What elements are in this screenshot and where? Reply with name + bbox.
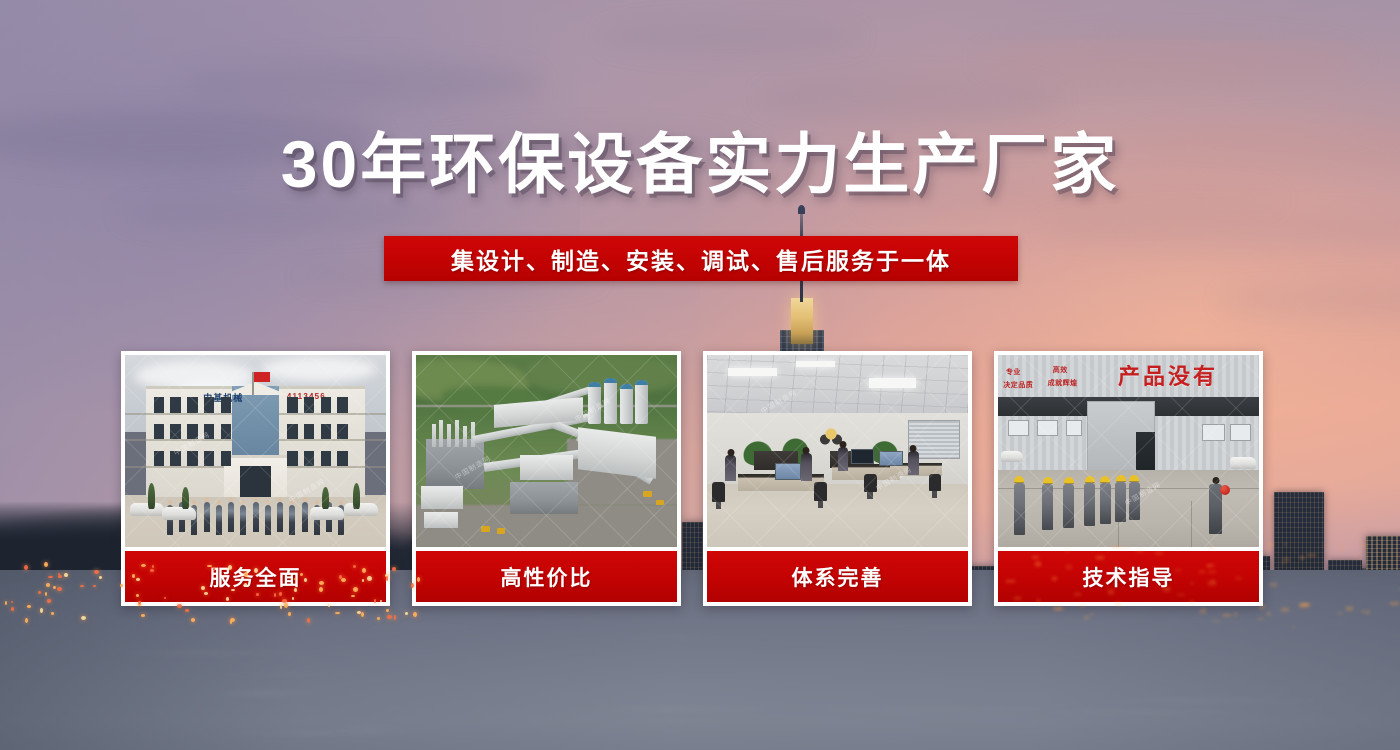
factory-slogan-small: 成就辉煌 — [1048, 378, 1078, 388]
building-window — [154, 451, 164, 466]
city-light — [1118, 572, 1120, 576]
city-light — [1365, 611, 1370, 614]
building-window — [170, 397, 180, 412]
factory-slogan-small: 决定品质 — [1003, 380, 1033, 390]
city-light — [1346, 607, 1353, 611]
city-light — [1302, 604, 1311, 606]
city-light — [1200, 609, 1206, 614]
feature-card[interactable]: 中基机械 4113456 中国制造网 中国制造网 服务全面 — [121, 351, 390, 606]
scene-element — [432, 424, 436, 447]
city-light — [1057, 608, 1065, 610]
city-light — [1032, 556, 1039, 559]
scene-element — [322, 487, 329, 509]
scene-element — [801, 453, 812, 481]
scene-element — [497, 528, 505, 534]
card-caption: 服务全面 — [125, 551, 386, 602]
scene-element — [254, 372, 270, 382]
scene-element — [424, 512, 458, 527]
city-light — [1208, 571, 1216, 573]
scene-element — [455, 420, 459, 447]
city-light — [1037, 599, 1040, 603]
scene-element — [879, 451, 902, 466]
city-light — [1354, 556, 1357, 558]
subtitle-banner: 集设计、制造、安装、调试、售后服务于一体 — [384, 236, 1018, 281]
card-photo-workers-factory: 产品没有 专业 决定品质 高效 成就辉煌 — [998, 355, 1259, 547]
scene-element — [707, 484, 968, 547]
building-window — [154, 424, 164, 439]
city-light — [1223, 614, 1231, 617]
scene-element — [712, 482, 725, 502]
scene-element — [162, 507, 196, 520]
city-light — [1177, 546, 1179, 548]
staff-figure — [289, 505, 295, 535]
city-light — [1268, 543, 1273, 546]
scene-element — [635, 380, 648, 385]
city-light — [1281, 608, 1289, 612]
building-window — [337, 397, 347, 412]
city-light — [1390, 603, 1399, 605]
scene-element — [1136, 432, 1154, 474]
worker-figure — [1063, 484, 1074, 528]
scene-element — [447, 424, 451, 447]
scene-element — [463, 426, 467, 447]
staff-figure — [253, 502, 259, 532]
scene-element — [353, 483, 360, 509]
scene-element — [604, 378, 617, 383]
city-light — [1177, 594, 1185, 596]
city-light — [1339, 545, 1344, 550]
building-window — [337, 424, 347, 439]
building-window — [304, 451, 314, 466]
city-light — [1052, 577, 1057, 581]
city-light — [1066, 565, 1072, 570]
building-window — [287, 424, 297, 439]
building-window — [321, 397, 331, 412]
card-caption: 高性价比 — [416, 551, 677, 602]
scene-element — [588, 382, 601, 387]
staff-figure — [265, 505, 271, 535]
worker-figure — [1014, 483, 1025, 535]
scene-element — [1037, 420, 1058, 435]
building-window — [221, 424, 231, 439]
city-light — [1270, 583, 1277, 587]
scene-element — [838, 447, 848, 471]
card-photo-office-interior: 中国制造网 中国制造网 — [707, 355, 968, 547]
scene-element — [620, 384, 633, 389]
city-light — [1190, 601, 1194, 603]
building-window — [337, 451, 347, 466]
city-light — [1263, 605, 1266, 608]
factory-slogan-large: 产品没有 — [1118, 359, 1218, 391]
city-light — [1115, 602, 1121, 605]
scene-element — [130, 503, 164, 516]
feature-card-row: 中基机械 4113456 中国制造网 中国制造网 服务全面 — [121, 351, 1277, 606]
staff-figure — [204, 502, 210, 532]
worker-figure — [1084, 483, 1095, 526]
scene-element — [635, 380, 648, 424]
building-window — [287, 397, 297, 412]
scene-element — [620, 384, 633, 424]
card-caption-label: 高性价比 — [501, 562, 593, 592]
scene-element — [344, 503, 378, 516]
scene-element — [510, 482, 578, 515]
scene-element — [707, 355, 968, 416]
scene-element — [656, 500, 664, 505]
city-light — [1112, 546, 1121, 548]
card-caption-label: 体系完善 — [792, 562, 884, 592]
city-light — [1199, 571, 1205, 573]
scene-element — [775, 463, 801, 480]
scene-element — [643, 491, 652, 497]
city-light — [1191, 582, 1193, 585]
city-light — [1258, 618, 1263, 620]
card-caption: 体系完善 — [707, 551, 968, 602]
scene-element — [814, 482, 827, 501]
city-light — [1136, 550, 1144, 553]
promotional-banner: 30年环保设备实力生产厂家 集设计、制造、安装、调试、售后服务于一体 — [0, 0, 1400, 750]
scene-element — [421, 486, 463, 509]
staff-figure — [216, 505, 222, 535]
scene-element — [261, 357, 376, 382]
city-light — [1080, 605, 1085, 607]
scene-element — [1008, 420, 1029, 435]
building-window — [221, 451, 231, 466]
city-light — [1235, 577, 1242, 580]
factory-slogan-small: 专业 — [1006, 367, 1021, 377]
scene-element — [1066, 420, 1082, 435]
city-light — [1175, 569, 1181, 572]
building-window — [204, 451, 214, 466]
city-light — [1266, 548, 1273, 551]
scene-element — [439, 420, 443, 447]
city-light — [1338, 612, 1342, 615]
building-window — [304, 397, 314, 412]
building-window — [170, 424, 180, 439]
city-light — [1108, 590, 1114, 595]
city-light — [1065, 550, 1070, 553]
card-photo-industrial-plant: 中国制造网 中国制造网 — [416, 355, 677, 547]
city-light — [1307, 554, 1316, 557]
subtitle-text: 集设计、制造、安装、调试、售后服务于一体 — [451, 242, 951, 276]
city-light — [1035, 562, 1041, 567]
scene-element — [310, 507, 344, 520]
city-light — [1090, 613, 1093, 616]
city-light — [1074, 593, 1081, 596]
building-window — [154, 397, 164, 412]
city-light — [1096, 556, 1104, 560]
city-light — [1281, 562, 1285, 565]
building-window — [304, 424, 314, 439]
feature-card[interactable]: 中国制造网 中国制造网 体系完善 — [703, 351, 972, 606]
scene-element — [1230, 457, 1256, 469]
scene-element — [929, 474, 941, 491]
building-window — [187, 451, 197, 466]
staff-figure — [240, 505, 246, 535]
building-window — [221, 397, 231, 412]
scene-element — [240, 466, 271, 497]
city-light — [1163, 587, 1170, 592]
scene-element — [851, 449, 874, 464]
feature-card[interactable]: 产品没有 专业 决定品质 高效 成就辉煌 — [994, 351, 1263, 606]
scene-element — [728, 368, 778, 376]
building-window — [321, 424, 331, 439]
worker-figure — [1100, 483, 1111, 524]
city-light — [1014, 597, 1021, 600]
staff-figure — [277, 502, 283, 532]
scene-element — [481, 526, 490, 532]
city-light — [1211, 580, 1215, 583]
scene-element — [1001, 451, 1023, 462]
scene-element — [869, 378, 916, 388]
card-photo-company-building: 中基机械 4113456 中国制造网 中国制造网 — [125, 355, 386, 547]
city-light — [1362, 610, 1364, 613]
city-light — [1207, 565, 1212, 568]
city-light — [1084, 616, 1089, 620]
worker-figure — [1042, 484, 1053, 530]
city-light — [1086, 543, 1090, 545]
factory-slogan-small: 高效 — [1053, 365, 1068, 375]
city-light — [1284, 543, 1287, 546]
city-light — [1300, 556, 1304, 560]
building-window — [321, 451, 331, 466]
building-window — [187, 397, 197, 412]
scene-element — [1230, 424, 1251, 441]
feature-card[interactable]: 中国制造网 中国制造网 高性价比 — [412, 351, 681, 606]
building-window — [204, 397, 214, 412]
city-light — [1361, 544, 1367, 547]
scene-element — [526, 355, 677, 393]
staff-figure — [302, 502, 308, 532]
city-light — [1292, 626, 1295, 628]
city-light — [1234, 613, 1237, 616]
scene-element — [1191, 501, 1192, 547]
scene-element — [796, 361, 835, 367]
city-light — [1122, 547, 1129, 549]
building-window — [287, 451, 297, 466]
scene-element — [520, 455, 572, 480]
city-light — [1322, 544, 1324, 548]
staff-figure — [228, 502, 234, 532]
card-caption-label: 技术指导 — [1083, 562, 1175, 592]
city-light — [1267, 612, 1270, 616]
city-light — [1155, 552, 1163, 555]
city-light — [1209, 547, 1214, 549]
card-caption-label: 服务全面 — [210, 562, 302, 592]
city-light — [1212, 620, 1220, 622]
city-light — [1006, 580, 1015, 583]
scene-element — [1202, 424, 1225, 441]
scene-element — [725, 455, 736, 481]
page-title: 30年环保设备实力生产厂家 — [0, 131, 1400, 197]
